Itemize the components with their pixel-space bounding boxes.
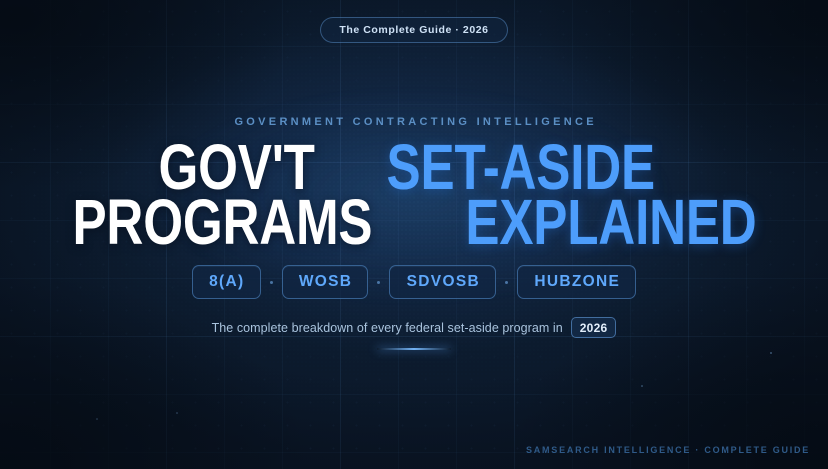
accent-divider-rule xyxy=(377,348,451,350)
page-title: GOV'TSET-ASIDE PROGRAMSEXPLAINED xyxy=(35,140,793,249)
program-pill-8a[interactable]: 8(A) xyxy=(192,265,261,299)
poster-content: The Complete Guide · 2026 GOVERNMENT CON… xyxy=(0,0,828,469)
top-guide-badge[interactable]: The Complete Guide · 2026 xyxy=(320,17,507,43)
program-pill-sdvosb[interactable]: SDVOSB xyxy=(389,265,496,299)
footer-attribution: SAMSEARCH INTELLIGENCE · COMPLETE GUIDE xyxy=(526,445,810,455)
subtitle: The complete breakdown of every federal … xyxy=(212,317,617,338)
program-pill-hubzone[interactable]: HUBZONE xyxy=(517,265,636,299)
program-pill-row: 8(A) WOSB SDVOSB HUBZONE xyxy=(192,265,636,299)
poster-canvas: The Complete Guide · 2026 GOVERNMENT CON… xyxy=(0,0,828,469)
program-pill-wosb[interactable]: WOSB xyxy=(282,265,369,299)
headline-word-programs: PROGRAMS xyxy=(72,195,372,249)
pill-separator-dot xyxy=(270,281,273,284)
pill-separator-dot xyxy=(377,281,380,284)
headline-line-2: PROGRAMSEXPLAINED xyxy=(35,195,793,249)
eyebrow-label: GOVERNMENT CONTRACTING INTELLIGENCE xyxy=(231,116,597,128)
subtitle-text: The complete breakdown of every federal … xyxy=(212,321,563,335)
subtitle-year-chip: 2026 xyxy=(571,317,617,338)
pill-separator-dot xyxy=(505,281,508,284)
headline-word-explained: EXPLAINED xyxy=(465,195,756,249)
